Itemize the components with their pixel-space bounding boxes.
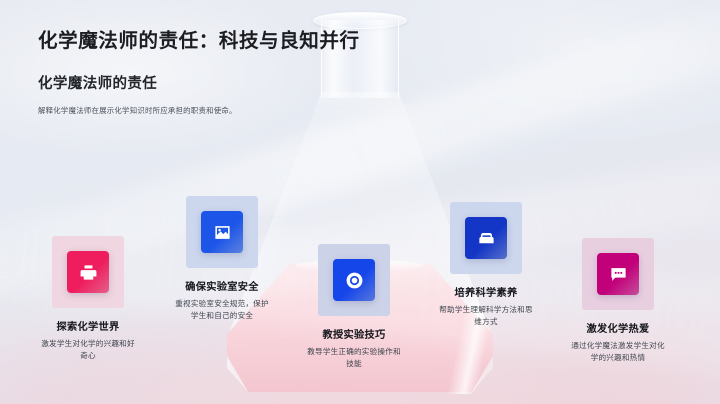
icon-backdrop bbox=[52, 236, 124, 308]
card-description: 帮助学生理解科学方法和思维方式 bbox=[420, 304, 552, 329]
section-description: 解释化学魔法师在展示化学知识时所应承担的职责和使命。 bbox=[38, 105, 237, 116]
card-description: 通过化学魔法激发学生对化学的兴趣和热情 bbox=[552, 340, 684, 365]
icon-tile[interactable] bbox=[333, 259, 375, 301]
printer-icon bbox=[79, 263, 98, 282]
icon-backdrop bbox=[582, 238, 654, 310]
feature-card[interactable]: 教授实验技巧 教导学生正确的实验操作和技能 bbox=[288, 244, 420, 371]
chat-bubble-icon bbox=[609, 265, 628, 284]
icon-tile[interactable] bbox=[67, 251, 109, 293]
card-title: 培养科学素养 bbox=[420, 284, 552, 299]
card-description: 重视实验室安全规范，保护学生和自己的安全 bbox=[156, 298, 288, 323]
icon-tile[interactable] bbox=[465, 217, 507, 259]
image-icon bbox=[213, 223, 232, 242]
card-description: 教导学生正确的实验操作和技能 bbox=[288, 346, 420, 371]
slide-content: 化学魔法师的责任：科技与良知并行 化学魔法师的责任 解释化学魔法师在展示化学知识… bbox=[0, 0, 720, 404]
sofa-icon bbox=[477, 229, 496, 248]
feature-card[interactable]: 探索化学世界 激发学生对化学的兴趣和好奇心 bbox=[22, 236, 154, 363]
slide-title: 化学魔法师的责任：科技与良知并行 bbox=[38, 24, 360, 53]
card-description: 激发学生对化学的兴趣和好奇心 bbox=[22, 338, 154, 363]
icon-backdrop bbox=[450, 202, 522, 274]
feature-card[interactable]: 确保实验室安全 重视实验室安全规范，保护学生和自己的安全 bbox=[156, 196, 288, 323]
icon-backdrop bbox=[318, 244, 390, 316]
icon-tile[interactable] bbox=[201, 211, 243, 253]
card-title: 教授实验技巧 bbox=[288, 326, 420, 341]
icon-tile[interactable] bbox=[597, 253, 639, 295]
card-title: 确保实验室安全 bbox=[156, 278, 288, 293]
card-title: 探索化学世界 bbox=[22, 318, 154, 333]
icon-backdrop bbox=[186, 196, 258, 268]
section-title: 化学魔法师的责任 bbox=[38, 72, 157, 93]
card-title: 激发化学热爱 bbox=[552, 320, 684, 335]
lens-icon bbox=[345, 271, 364, 290]
feature-card[interactable]: 激发化学热爱 通过化学魔法激发学生对化学的兴趣和热情 bbox=[552, 238, 684, 365]
feature-card[interactable]: 培养科学素养 帮助学生理解科学方法和思维方式 bbox=[420, 202, 552, 329]
